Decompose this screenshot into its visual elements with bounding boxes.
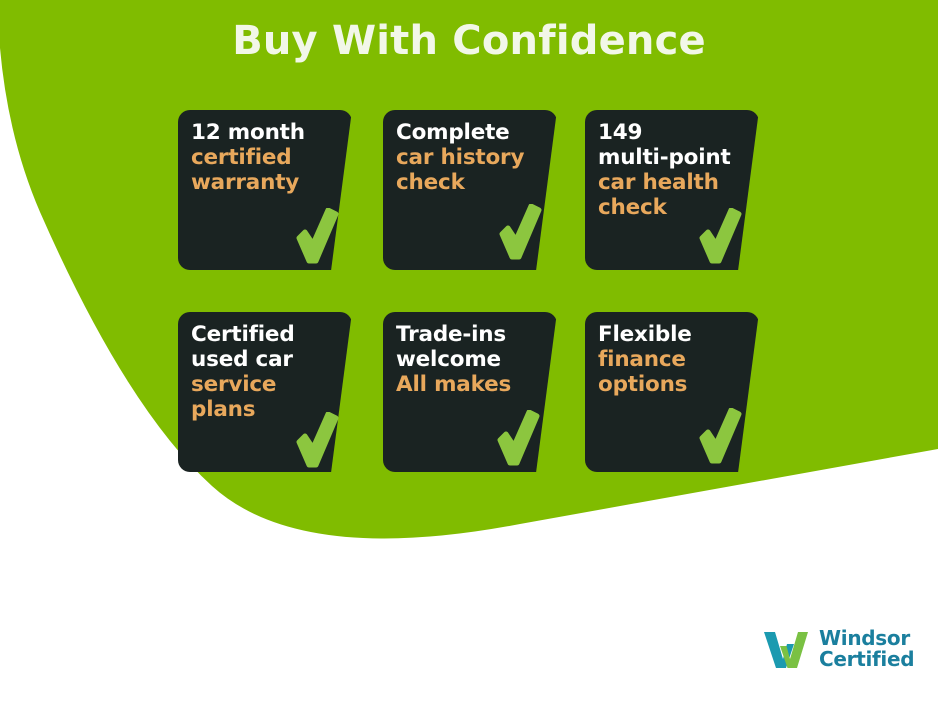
- card-line: car history: [396, 146, 543, 171]
- card-line: finance: [598, 348, 745, 373]
- feature-card[interactable]: Certified used car service plans: [178, 312, 352, 472]
- check-icon: [295, 208, 339, 264]
- card-line: Certified: [191, 323, 338, 348]
- card-line: 149: [598, 121, 745, 146]
- feature-card[interactable]: Trade-ins welcome All makes: [383, 312, 557, 472]
- brand-wordmark: Windsor Certified: [819, 628, 914, 670]
- card-text-block: Complete car history check: [396, 121, 543, 196]
- brand-line-1: Windsor: [819, 628, 914, 649]
- card-line: used car: [191, 348, 338, 373]
- card-text-block: 149 multi-point car health check: [598, 121, 745, 221]
- card-line: warranty: [191, 171, 338, 196]
- feature-card[interactable]: Complete car history check: [383, 110, 557, 270]
- card-text-block: Trade-ins welcome All makes: [396, 323, 543, 398]
- card-text-block: Certified used car service plans: [191, 323, 338, 423]
- card-text-block: 12 month certified warranty: [191, 121, 338, 196]
- check-icon: [498, 204, 542, 260]
- card-line: multi-point: [598, 146, 745, 171]
- card-line: car health: [598, 171, 745, 196]
- check-icon: [295, 412, 339, 468]
- check-icon: [496, 410, 540, 466]
- card-line: check: [396, 171, 543, 196]
- windsor-w-mark-icon: [762, 628, 810, 670]
- check-icon: [698, 208, 742, 264]
- card-text-block: Flexible finance options: [598, 323, 745, 398]
- brand-line-2: Certified: [819, 649, 914, 670]
- feature-card[interactable]: 12 month certified warranty: [178, 110, 352, 270]
- card-line: All makes: [396, 373, 543, 398]
- card-line: options: [598, 373, 745, 398]
- card-line: service: [191, 373, 338, 398]
- page-title: Buy With Confidence: [0, 18, 938, 64]
- card-line: Trade-ins: [396, 323, 543, 348]
- feature-card[interactable]: Flexible finance options: [585, 312, 759, 472]
- card-line: Flexible: [598, 323, 745, 348]
- slide-canvas: Buy With Confidence 12 month certified w…: [0, 0, 938, 704]
- card-line: certified: [191, 146, 338, 171]
- check-icon: [698, 408, 742, 464]
- card-line: Complete: [396, 121, 543, 146]
- card-line: 12 month: [191, 121, 338, 146]
- feature-card-grid: 12 month certified warranty Complete car…: [178, 110, 758, 472]
- card-line: welcome: [396, 348, 543, 373]
- feature-card[interactable]: 149 multi-point car health check: [585, 110, 759, 270]
- brand-logo[interactable]: Windsor Certified: [762, 628, 914, 670]
